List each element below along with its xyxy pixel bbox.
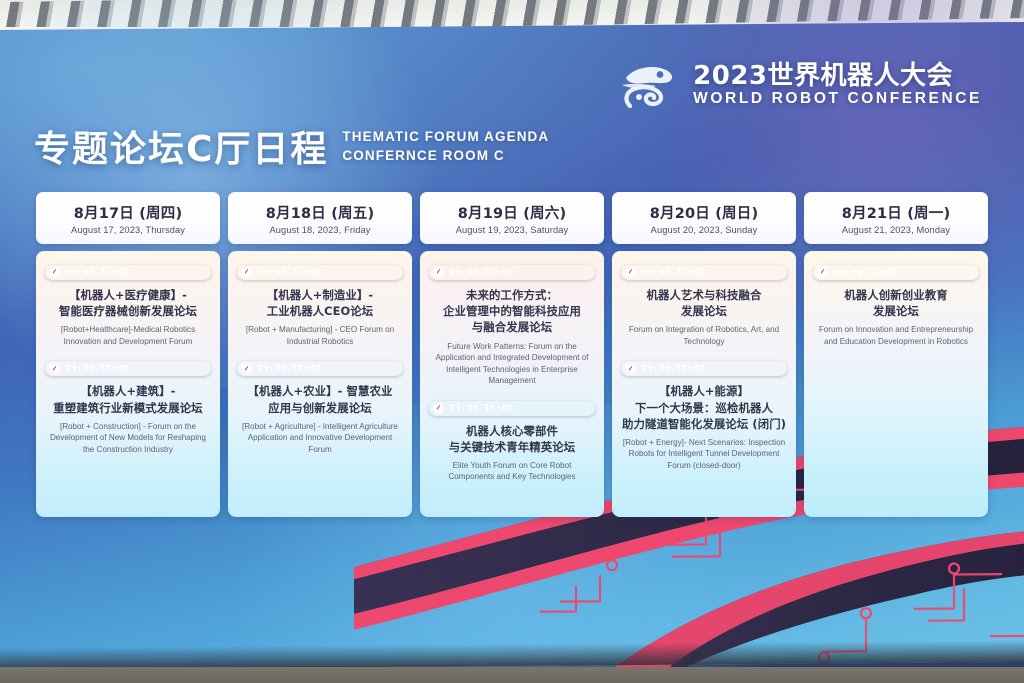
session-title-cn: 机器人艺术与科技融合发展论坛 [647, 287, 762, 319]
page-title-en: THEMATIC FORUM AGENDA CONFERNCE ROOM C [342, 128, 549, 168]
logo-title-en: WORLD ROBOT CONFERENCE [693, 91, 982, 107]
session-time-badge: 09:00-12:00 [45, 265, 211, 280]
session-title-cn: 【机器人+医疗健康】-智能医疗器械创新发展论坛 [59, 287, 197, 319]
clock-icon [241, 363, 252, 374]
day-header: 8月20日 (周日)August 20, 2023, Sunday [612, 192, 796, 244]
session-title-en: Forum on Innovation and Entrepreneurship… [813, 324, 979, 347]
day-label-cn: 8月20日 (周日) [650, 202, 759, 223]
clock-icon [433, 267, 444, 278]
clock-icon [625, 363, 636, 374]
clock-icon [817, 267, 828, 278]
day-label-cn: 8月21日 (周一) [842, 202, 951, 223]
session-title-en: Elite Youth Forum on Core Robot Componen… [429, 460, 595, 483]
session-time-badge: 13:30-18:00 [237, 361, 403, 376]
agenda-column: 8月20日 (周日)August 20, 2023, Sunday09:00-1… [612, 192, 796, 517]
session-title-en: [Robot + Energy]- Next Scenarios: Inspec… [621, 437, 787, 471]
logo-text: 2023世界机器人大会 WORLD ROBOT CONFERENCE [693, 63, 982, 107]
session-time-badge: 09:00-12:00 [621, 265, 787, 280]
day-sessions: 09:00-12:00未来的工作方式：企业管理中的智能科技应用与融合发展论坛Fu… [420, 251, 604, 517]
board-bottom-shadow [0, 640, 1024, 670]
day-header: 8月21日 (周一)August 21, 2023, Monday [804, 192, 988, 244]
session-title-en: [Robot + Manufacturing] - CEO Forum on I… [237, 324, 403, 347]
session-item[interactable]: 09:00-12:00机器人创新创业教育发展论坛Forum on Innovat… [813, 265, 979, 347]
session-item[interactable]: 13:30-18:00【机器人+能源】下一个大场景：巡检机器人助力隧道智能化发展… [621, 361, 787, 471]
day-label-en: August 21, 2023, Monday [842, 225, 950, 235]
agenda-grid: 8月17日 (周四)August 17, 2023, Thursday09:00… [36, 192, 988, 517]
logo-title-cn: 2023世界机器人大会 [693, 63, 982, 89]
session-time: 13:30-18:00 [257, 363, 321, 374]
session-time: 13:30-18:00 [641, 363, 705, 374]
page-title-cn: 专题论坛C厅日程 [34, 132, 328, 168]
agenda-column: 8月17日 (周四)August 17, 2023, Thursday09:00… [36, 192, 220, 517]
day-label-cn: 8月19日 (周六) [458, 202, 567, 223]
session-title-cn: 机器人核心零部件与关键技术青年精英论坛 [449, 423, 575, 455]
robot-head-icon [620, 62, 682, 108]
session-item[interactable]: 09:00-12:00未来的工作方式：企业管理中的智能科技应用与融合发展论坛Fu… [429, 265, 595, 387]
clock-icon [433, 403, 444, 414]
session-time: 09:00-12:00 [257, 267, 321, 278]
day-label-en: August 19, 2023, Saturday [456, 225, 569, 235]
session-title-en: Future Work Patterns: Forum on the Appli… [429, 341, 595, 387]
session-time: 13:30-18:00 [449, 403, 513, 414]
day-sessions: 09:00-12:00机器人创新创业教育发展论坛Forum on Innovat… [804, 251, 988, 517]
session-item[interactable]: 09:00-12:00【机器人+医疗健康】-智能医疗器械创新发展论坛[Robot… [45, 265, 211, 347]
session-title-cn: 未来的工作方式：企业管理中的智能科技应用与融合发展论坛 [443, 287, 581, 336]
session-title-en: [Robot + Construction] - Forum on the De… [45, 421, 211, 455]
session-item[interactable]: 13:30-18:00【机器人+农业】- 智慧农业应用与创新发展论坛[Robot… [237, 361, 403, 455]
session-time: 09:00-12:00 [641, 267, 705, 278]
day-header: 8月18日 (周五)August 18, 2023, Friday [228, 192, 412, 244]
session-time: 09:00-12:00 [833, 267, 897, 278]
session-time-badge: 13:30-18:00 [45, 361, 211, 376]
session-item[interactable]: 13:30-18:00【机器人+建筑】-重塑建筑行业新模式发展论坛[Robot … [45, 361, 211, 455]
session-time: 13:30-18:00 [65, 363, 129, 374]
day-label-en: August 18, 2023, Friday [269, 225, 370, 235]
day-sessions: 09:00-12:00机器人艺术与科技融合发展论坛Forum on Integr… [612, 251, 796, 517]
clock-icon [625, 267, 636, 278]
session-title-cn: 【机器人+农业】- 智慧农业应用与创新发展论坛 [248, 383, 393, 415]
day-label-en: August 20, 2023, Sunday [651, 225, 758, 235]
clock-icon [49, 363, 60, 374]
conference-logo: 2023世界机器人大会 WORLD ROBOT CONFERENCE [620, 62, 982, 108]
session-time-badge: 09:00-12:00 [429, 265, 595, 280]
page-title: 专题论坛C厅日程 THEMATIC FORUM AGENDA CONFERNCE… [34, 128, 549, 168]
day-header: 8月19日 (周六)August 19, 2023, Saturday [420, 192, 604, 244]
session-title-cn: 【机器人+建筑】-重塑建筑行业新模式发展论坛 [53, 383, 202, 415]
day-sessions: 09:00-12:00【机器人+制造业】-工业机器人CEO论坛[Robot + … [228, 251, 412, 517]
day-label-cn: 8月18日 (周五) [266, 202, 375, 223]
session-item[interactable]: 13:30-18:00机器人核心零部件与关键技术青年精英论坛Elite Yout… [429, 401, 595, 483]
session-title-en: [Robot + Agriculture] - Intelligent Agri… [237, 421, 403, 455]
screenshot-root: 专题论坛C厅日程 THEMATIC FORUM AGENDA CONFERNCE… [0, 0, 1024, 683]
session-time-badge: 09:00-12:00 [237, 265, 403, 280]
session-title-cn: 【机器人+能源】下一个大场景：巡检机器人助力隧道智能化发展论坛 (闭门) [622, 383, 786, 432]
session-time-badge: 13:30-18:00 [621, 361, 787, 376]
clock-icon [49, 267, 60, 278]
session-item[interactable]: 09:00-12:00【机器人+制造业】-工业机器人CEO论坛[Robot + … [237, 265, 403, 347]
session-item[interactable]: 09:00-12:00机器人艺术与科技融合发展论坛Forum on Integr… [621, 265, 787, 347]
session-title-cn: 机器人创新创业教育发展论坛 [844, 287, 947, 319]
floor-strip [0, 667, 1024, 683]
agenda-column: 8月19日 (周六)August 19, 2023, Saturday09:00… [420, 192, 604, 517]
day-sessions: 09:00-12:00【机器人+医疗健康】-智能医疗器械创新发展论坛[Robot… [36, 251, 220, 517]
day-label-cn: 8月17日 (周四) [74, 202, 183, 223]
agenda-column: 8月18日 (周五)August 18, 2023, Friday09:00-1… [228, 192, 412, 517]
session-time-badge: 09:00-12:00 [813, 265, 979, 280]
day-label-en: August 17, 2023, Thursday [71, 225, 185, 235]
clock-icon [241, 267, 252, 278]
session-title-en: Forum on Integration of Robotics, Art, a… [621, 324, 787, 347]
agenda-column: 8月21日 (周一)August 21, 2023, Monday09:00-1… [804, 192, 988, 517]
session-title-en: [Robot+Healthcare]-Medical Robotics Inno… [45, 324, 211, 347]
session-time: 09:00-12:00 [449, 267, 513, 278]
session-title-cn: 【机器人+制造业】-工业机器人CEO论坛 [267, 287, 374, 319]
session-time-badge: 13:30-18:00 [429, 401, 595, 416]
page-title-en-line2: CONFERNCE ROOM C [342, 147, 549, 166]
page-title-en-line1: THEMATIC FORUM AGENDA [342, 128, 549, 147]
day-header: 8月17日 (周四)August 17, 2023, Thursday [36, 192, 220, 244]
session-time: 09:00-12:00 [65, 267, 129, 278]
